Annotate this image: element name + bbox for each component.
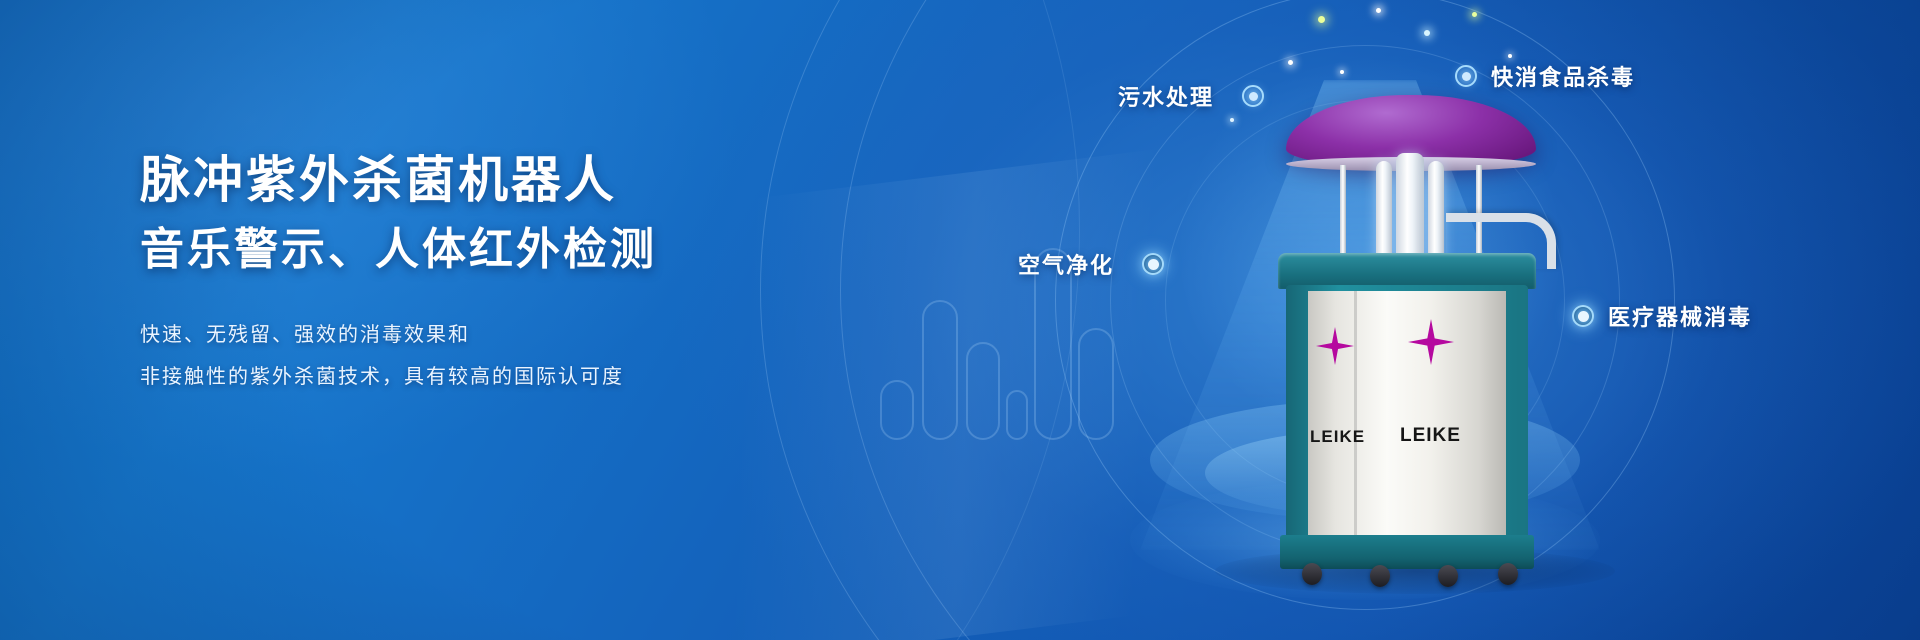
sparkle	[1472, 12, 1477, 17]
promo-banner: 脉冲紫外杀菌机器人 音乐警示、人体红外检测 快速、无残留、强效的消毒效果和 非接…	[0, 0, 1920, 640]
wave-bar	[1006, 390, 1028, 440]
panel-seam	[1354, 291, 1357, 539]
cabinet-base	[1280, 535, 1534, 569]
subcopy-line-1: 快速、无残留、强效的消毒效果和	[140, 314, 860, 356]
cabinet-top	[1278, 253, 1536, 289]
wave-bar	[1078, 328, 1114, 440]
feature-label: 污水处理	[1118, 80, 1214, 112]
sparkle	[1340, 70, 1344, 74]
sparkle	[1230, 118, 1234, 122]
feature-label: 空气净化	[1018, 248, 1114, 280]
subcopy-line-2: 非接触性的紫外杀菌技术，具有较高的国际认可度	[140, 356, 860, 398]
uv-disinfection-robot: LEIKE LEIKE	[1250, 95, 1580, 575]
callout-dot-icon	[1142, 253, 1164, 275]
sparkle	[1424, 30, 1430, 36]
sparkle	[1318, 16, 1325, 23]
feature-label: 医疗器械消毒	[1608, 300, 1752, 332]
subcopy-block: 快速、无残留、强效的消毒效果和 非接触性的紫外杀菌技术，具有较高的国际认可度	[140, 314, 860, 398]
wave-bar	[922, 300, 958, 440]
caster-wheel	[1498, 563, 1518, 585]
feature-callout-food[interactable]: 快消食品杀毒	[1455, 60, 1635, 92]
headline-block: 脉冲紫外杀菌机器人 音乐警示、人体红外检测 快速、无残留、强效的消毒效果和 非接…	[140, 150, 860, 398]
uv-tube-center	[1396, 153, 1424, 265]
feature-label: 快消食品杀毒	[1491, 60, 1635, 92]
uv-tube-right	[1428, 161, 1444, 265]
cabinet-front-panel	[1308, 291, 1506, 539]
sparkle	[1288, 60, 1293, 65]
feature-callout-air[interactable]: 空气净化	[1018, 248, 1164, 280]
lamp-support-rod-left	[1340, 165, 1346, 265]
feature-callout-wastewater[interactable]: 污水处理	[1118, 80, 1264, 112]
wave-bar	[880, 380, 914, 440]
headline-secondary: 音乐警示、人体红外检测	[140, 221, 860, 278]
feature-callout-medical[interactable]: 医疗器械消毒	[1572, 300, 1752, 332]
caster-wheel	[1438, 565, 1458, 587]
callout-dot-icon	[1455, 65, 1477, 87]
sparkle	[1376, 8, 1381, 13]
brand-wordmark-left: LEIKE	[1310, 427, 1365, 447]
brand-wordmark-right: LEIKE	[1400, 425, 1461, 447]
caster-wheel	[1370, 565, 1390, 587]
uv-tube-left	[1376, 161, 1392, 265]
headline-primary: 脉冲紫外杀菌机器人	[140, 150, 860, 211]
sparkle	[1508, 54, 1512, 58]
wave-bar	[966, 342, 1000, 440]
caster-wheel	[1302, 563, 1322, 585]
